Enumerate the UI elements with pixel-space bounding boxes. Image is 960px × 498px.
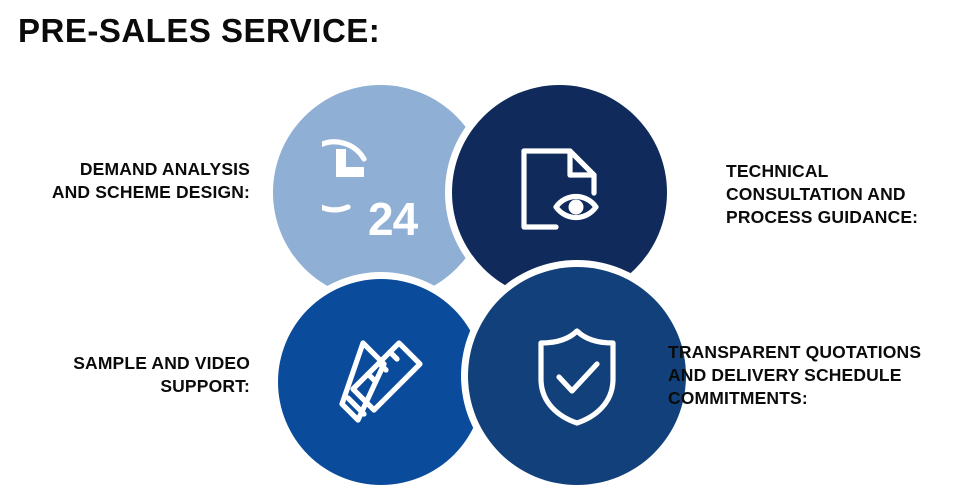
label-transparent-quotations: TRANSPARENT QUOTATIONS AND DELIVERY SCHE… bbox=[668, 341, 960, 410]
label-line: DEMAND ANALYSIS bbox=[10, 158, 250, 181]
svg-text:24: 24 bbox=[368, 193, 419, 245]
label-line: TECHNICAL bbox=[726, 160, 956, 183]
label-line: AND DELIVERY SCHEDULE bbox=[668, 364, 960, 387]
label-line: TRANSPARENT QUOTATIONS bbox=[668, 341, 960, 364]
shield-check-icon bbox=[527, 323, 627, 429]
pencil-ruler-icon bbox=[328, 329, 434, 435]
label-demand-analysis: DEMAND ANALYSIS AND SCHEME DESIGN: bbox=[10, 158, 250, 204]
circle-sample-video[interactable] bbox=[278, 279, 484, 485]
page-title: PRE-SALES SERVICE: bbox=[18, 12, 380, 50]
label-line: COMMITMENTS: bbox=[668, 387, 960, 410]
circle-cluster: 24 bbox=[273, 85, 673, 485]
document-eye-icon bbox=[508, 141, 612, 245]
label-line: AND SCHEME DESIGN: bbox=[10, 181, 250, 204]
infographic-canvas: PRE-SALES SERVICE: 24 bbox=[0, 0, 960, 498]
label-line: SUPPORT: bbox=[10, 375, 250, 398]
label-technical-consultation: TECHNICAL CONSULTATION AND PROCESS GUIDA… bbox=[726, 160, 956, 229]
label-sample-video: SAMPLE AND VIDEO SUPPORT: bbox=[10, 352, 250, 398]
label-line: SAMPLE AND VIDEO bbox=[10, 352, 250, 375]
label-line: PROCESS GUIDANCE: bbox=[726, 206, 956, 229]
circle-transparent-quotations[interactable] bbox=[468, 267, 686, 485]
label-line: CONSULTATION AND bbox=[726, 183, 956, 206]
clock-24-rotate-icon: 24 bbox=[322, 139, 440, 247]
